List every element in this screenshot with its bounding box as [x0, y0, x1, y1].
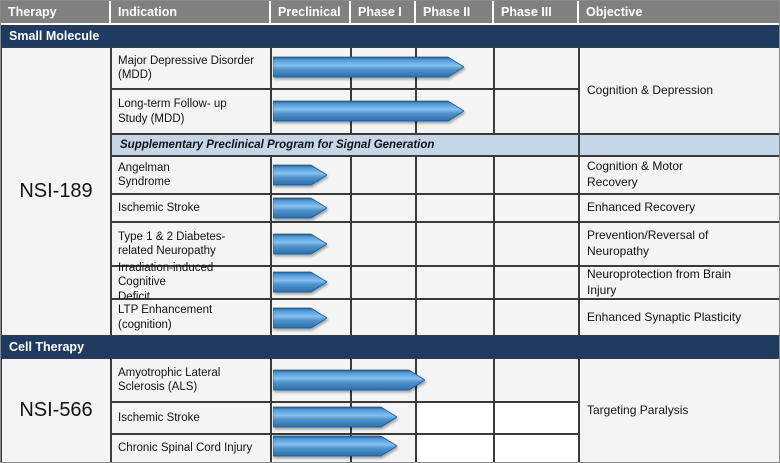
stage-cell-phase1: [351, 266, 416, 299]
section-band-small-molecule: Small Molecule: [1, 25, 780, 47]
therapy-cell-nsi-566: NSI-566: [1, 358, 111, 463]
indication-cell: Irradiation-induced Cognitive Deficit: [111, 266, 271, 299]
stage-cell-phase1: [351, 222, 416, 266]
column-header-phase2: Phase II: [416, 1, 494, 25]
column-header-phase2-label: Phase II: [423, 5, 470, 19]
indication-label: LTP Enhancement (cognition): [118, 303, 212, 332]
column-header-phase3: Phase III: [494, 1, 579, 25]
objective-label: Cognition & Motor Recovery: [587, 159, 683, 190]
indication-label: Chronic Spinal Cord Injury: [118, 441, 252, 455]
therapy-cell-nsi-189: NSI-189: [1, 47, 111, 336]
indication-label: Ischemic Stroke: [118, 201, 200, 215]
indication-label: Ischemic Stroke: [118, 411, 200, 425]
stage-cell-phase2: [416, 402, 494, 434]
objective-label: Targeting Paralysis: [587, 403, 688, 419]
objective-cell: Cognition & Depression: [579, 47, 780, 134]
progress-arrow-ischemic-stroke-nsi189: [273, 197, 327, 219]
progress-arrow-angelman: [273, 164, 327, 186]
stage-cell-phase2: [416, 358, 494, 402]
stage-cell-phase3: [494, 402, 579, 434]
progress-arrow-long-term-followup: [273, 100, 464, 122]
section-band-cell-therapy: Cell Therapy: [1, 336, 780, 358]
objective-label: Neuroprotection from Brain Injury: [587, 267, 731, 298]
supplementary-program-banner: Supplementary Preclinical Program for Si…: [111, 134, 579, 156]
stage-cell-phase3: [494, 434, 579, 463]
indication-label: Major Depressive Disorder (MDD): [118, 54, 254, 83]
stage-cell-phase3: [494, 89, 579, 134]
therapy-label-nsi-189: NSI-189: [19, 180, 92, 203]
column-header-preclinical-label: Preclinical: [278, 5, 341, 19]
progress-arrow-mdd: [273, 56, 464, 78]
stage-cell-phase2: [416, 156, 494, 194]
indication-cell: Angelman Syndrome: [111, 156, 271, 194]
column-header-objective-label: Objective: [586, 5, 642, 19]
indication-cell: LTP Enhancement (cognition): [111, 299, 271, 336]
column-header-phase1-label: Phase I: [358, 5, 402, 19]
progress-arrow-irradiation-deficit: [273, 271, 327, 293]
objective-cell: Prevention/Reversal of Neuropathy: [579, 222, 780, 266]
objective-cell: Neuroprotection from Brain Injury: [579, 266, 780, 299]
objective-label: Cognition & Depression: [587, 83, 713, 99]
stage-cell-phase3: [494, 222, 579, 266]
objective-label: Prevention/Reversal of Neuropathy: [587, 228, 708, 259]
objective-cell: Enhanced Synaptic Plasticity: [579, 299, 780, 336]
stage-cell-phase3: [494, 358, 579, 402]
progress-arrow-ischemic-stroke-nsi566: [273, 406, 397, 428]
objective-label: Enhanced Synaptic Plasticity: [587, 310, 741, 326]
stage-cell-phase2: [416, 266, 494, 299]
pipeline-chart: Therapy Indication Preclinical Phase I P…: [0, 0, 780, 463]
progress-arrow-als: [273, 369, 425, 391]
indication-cell: Type 1 & 2 Diabetes- related Neuropathy: [111, 222, 271, 266]
column-header-preclinical: Preclinical: [271, 1, 351, 25]
stage-cell-phase2: [416, 299, 494, 336]
stage-cell-phase2: [416, 222, 494, 266]
section-band-small-molecule-label: Small Molecule: [9, 29, 99, 43]
objective-cell: Cognition & Motor Recovery: [579, 156, 780, 194]
indication-cell: Long-term Follow- up Study (MDD): [111, 89, 271, 134]
column-header-objective: Objective: [579, 1, 780, 25]
objective-cell: Enhanced Recovery: [579, 194, 780, 222]
indication-cell: Ischemic Stroke: [111, 194, 271, 222]
indication-label: Amyotrophic Lateral Sclerosis (ALS): [118, 366, 220, 395]
indication-cell: Major Depressive Disorder (MDD): [111, 47, 271, 89]
stage-cell-phase3: [494, 266, 579, 299]
column-header-phase1: Phase I: [351, 1, 416, 25]
indication-label: Irradiation-induced Cognitive Deficit: [118, 261, 264, 304]
column-header-therapy-label: Therapy: [8, 5, 57, 19]
progress-arrow-diabetic-neuropathy: [273, 233, 327, 255]
indication-cell: Amyotrophic Lateral Sclerosis (ALS): [111, 358, 271, 402]
column-header-therapy: Therapy: [1, 1, 111, 25]
stage-cell-phase2: [416, 434, 494, 463]
progress-arrow-ltp-enhancement: [273, 307, 327, 329]
column-header-phase3-label: Phase III: [501, 5, 552, 19]
stage-cell-phase3: [494, 299, 579, 336]
stage-cell-phase1: [351, 194, 416, 222]
indication-cell: Chronic Spinal Cord Injury: [111, 434, 271, 463]
supplementary-program-label: Supplementary Preclinical Program for Si…: [120, 139, 434, 151]
stage-cell-phase1: [351, 299, 416, 336]
column-header-indication: Indication: [111, 1, 271, 25]
stage-cell-phase2: [416, 194, 494, 222]
therapy-label-nsi-566: NSI-566: [19, 399, 92, 422]
indication-label: Type 1 & 2 Diabetes- related Neuropathy: [118, 230, 225, 259]
objective-label: Enhanced Recovery: [587, 200, 695, 216]
stage-cell-phase3: [494, 194, 579, 222]
progress-arrow-chronic-spinal-cord-injury: [273, 435, 397, 457]
section-band-cell-therapy-label: Cell Therapy: [9, 340, 84, 354]
indication-label: Angelman Syndrome: [118, 161, 170, 190]
objective-cell: Targeting Paralysis: [579, 358, 780, 463]
indication-label: Long-term Follow- up Study (MDD): [118, 97, 227, 126]
supplementary-objective-spacer: [579, 134, 780, 156]
stage-cell-phase3: [494, 47, 579, 89]
column-header-indication-label: Indication: [118, 5, 177, 19]
stage-cell-phase1: [351, 156, 416, 194]
stage-cell-phase3: [494, 156, 579, 194]
indication-cell: Ischemic Stroke: [111, 402, 271, 434]
